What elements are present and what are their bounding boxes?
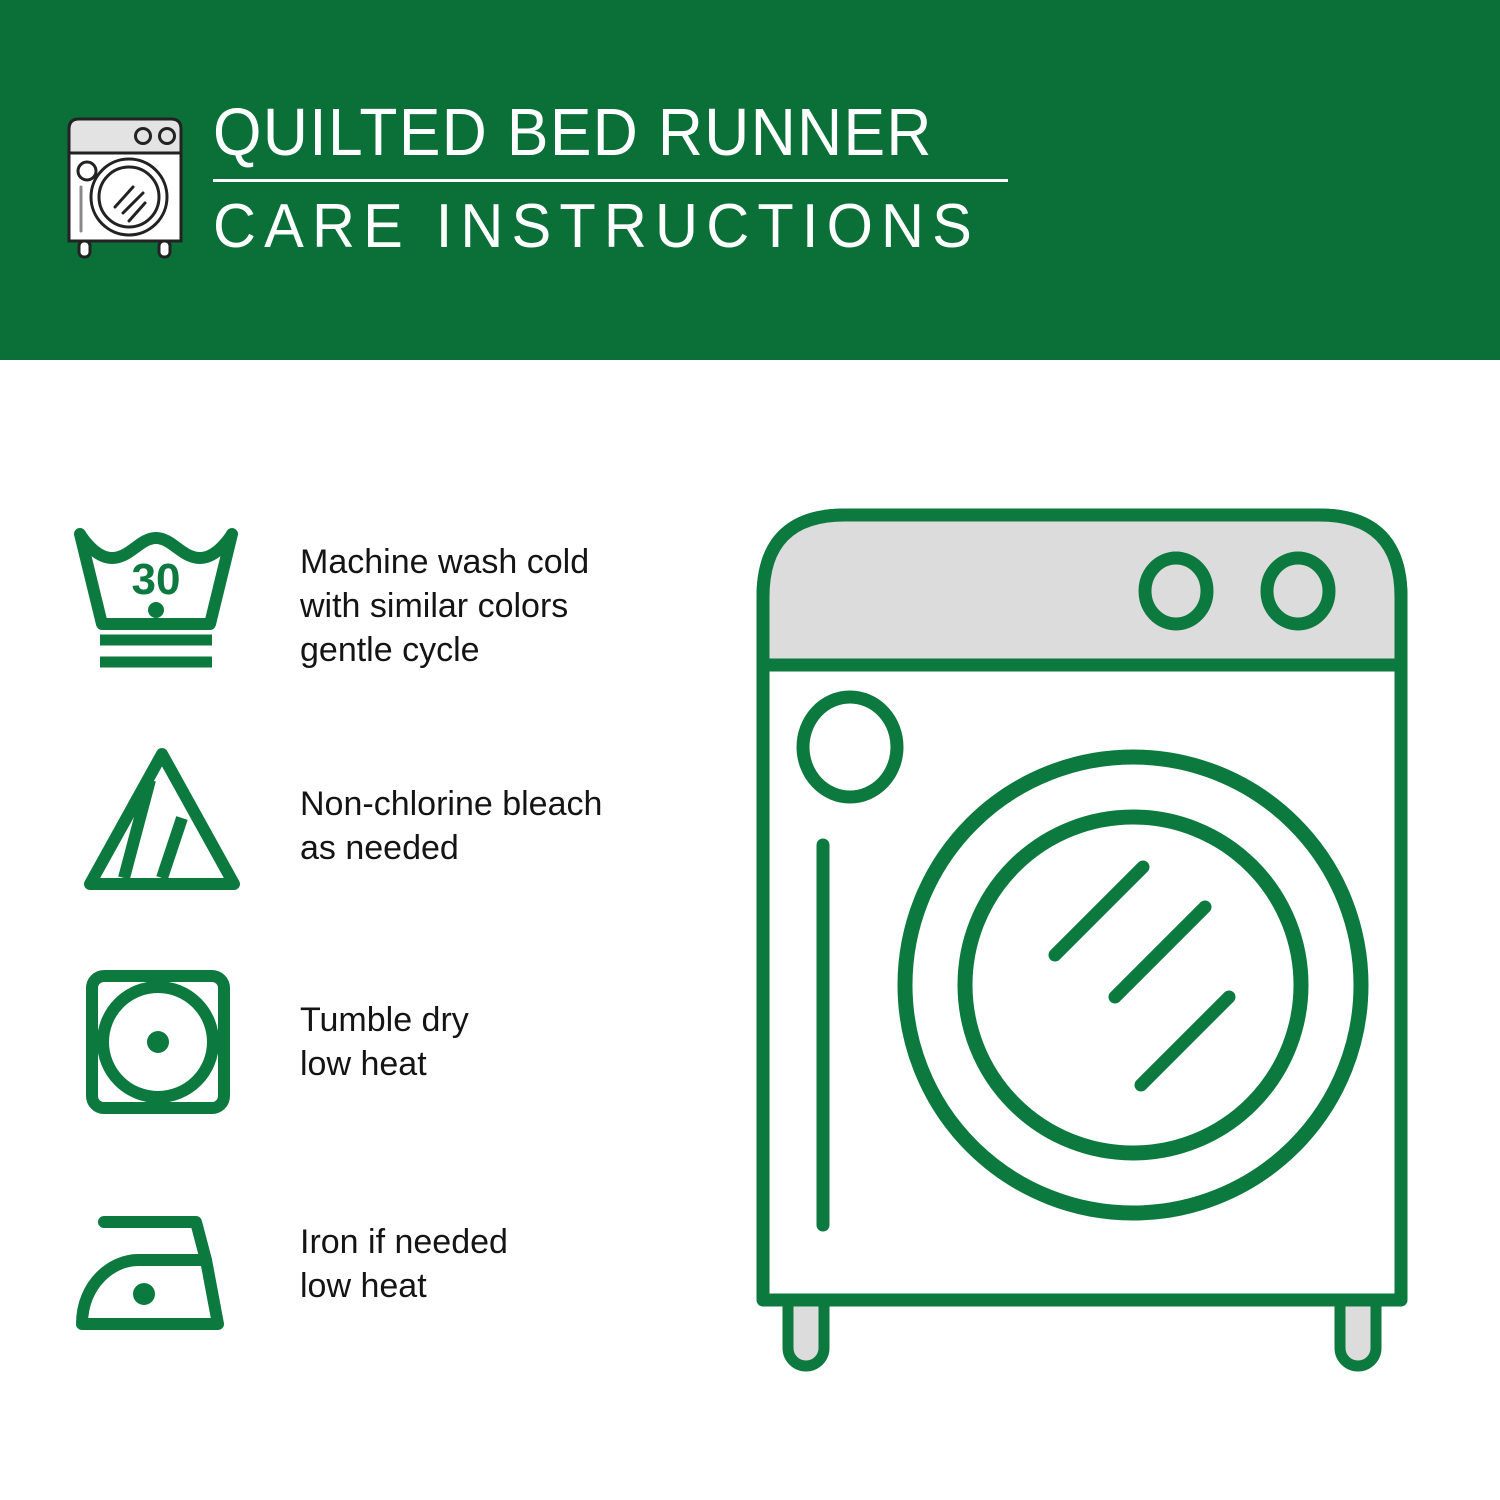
header-band: QUILTED BED RUNNER CARE INSTRUCTIONS xyxy=(0,0,1500,360)
care-instructions-page: QUILTED BED RUNNER CARE INSTRUCTIONS 30 xyxy=(0,0,1500,1500)
list-item-label: Tumble dry low heat xyxy=(300,998,469,1086)
iron-low-heat-icon xyxy=(72,1198,240,1366)
control-knob-right xyxy=(1267,558,1329,624)
large-washing-machine-illustration xyxy=(735,485,1455,1405)
list-item-label: Non-chlorine bleach as needed xyxy=(300,782,602,870)
indicator-circle xyxy=(803,697,897,797)
page-subtitle: CARE INSTRUCTIONS xyxy=(213,192,1019,262)
page-title: QUILTED BED RUNNER xyxy=(213,95,994,171)
list-item-label: Iron if needed low heat xyxy=(300,1220,508,1308)
tumble-dry-low-icon xyxy=(80,964,248,1132)
control-knob-left xyxy=(1145,558,1207,624)
list-item-label: Machine wash cold with similar colors ge… xyxy=(300,540,589,672)
list-item: Non-chlorine bleach as needed xyxy=(72,734,692,956)
wash-temperature-label: 30 xyxy=(132,555,181,604)
list-item: 30 Machine wash cold with similar colors… xyxy=(72,512,692,734)
list-item: Tumble dry low heat xyxy=(72,956,692,1178)
title-divider xyxy=(213,179,1008,182)
header-titles: QUILTED BED RUNNER CARE INSTRUCTIONS xyxy=(213,95,1053,262)
care-symbol-list: 30 Machine wash cold with similar colors… xyxy=(72,512,692,1400)
header-content: QUILTED BED RUNNER CARE INSTRUCTIONS xyxy=(55,95,1055,280)
non-chlorine-bleach-triangle-icon xyxy=(78,740,246,908)
list-item: Iron if needed low heat xyxy=(72,1178,692,1400)
washing-machine-icon xyxy=(55,103,195,263)
wash-tub-30-gentle-icon: 30 xyxy=(72,512,240,680)
